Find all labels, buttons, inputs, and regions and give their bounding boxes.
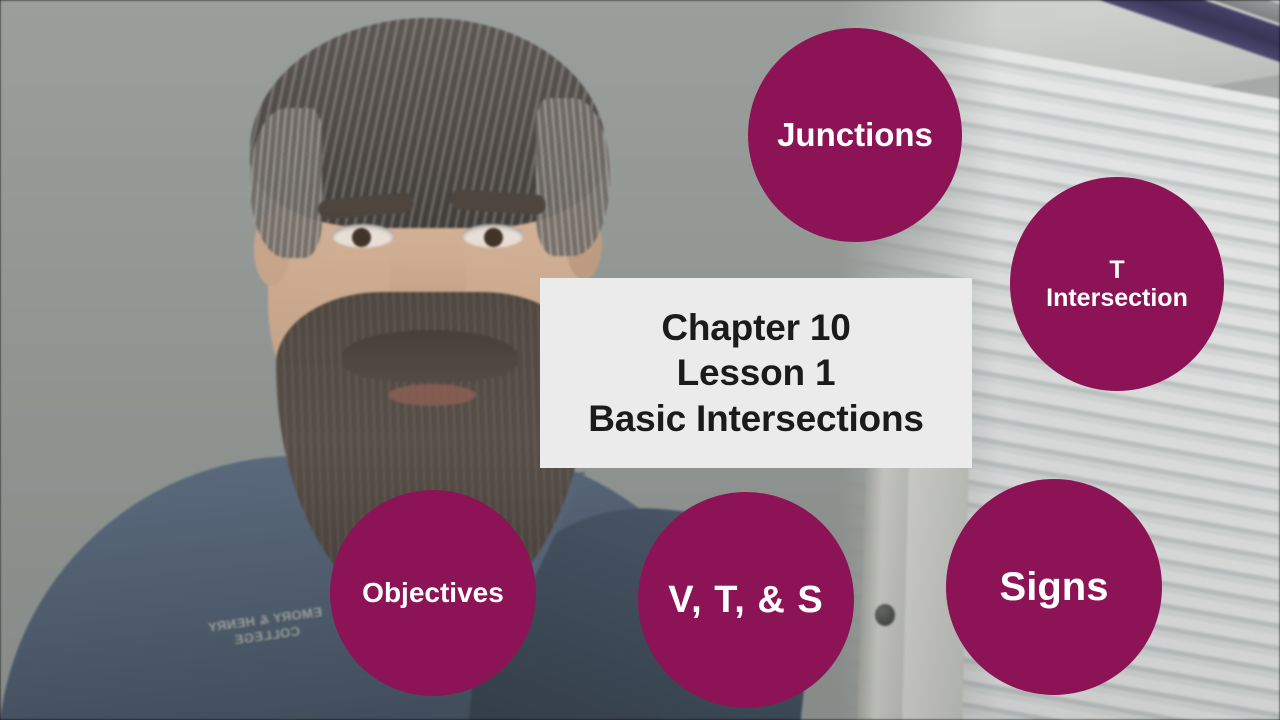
topic-bubble-junctions[interactable]: Junctions [748,28,962,242]
title-line-1: Chapter 10 [661,306,850,350]
topic-bubble-t-intersection[interactable]: T Intersection [1010,177,1224,391]
topic-bubble-signs-label: Signs [1000,565,1109,610]
topic-bubble-objectives-label: Objectives [362,577,504,608]
title-card: Chapter 10 Lesson 1 Basic Intersections [540,278,972,468]
video-frame: EMORY & HENRY COLLEGE Junctions T Inters… [0,0,1280,720]
title-line-3: Basic Intersections [588,397,924,441]
topic-bubble-vts[interactable]: V, T, & S [638,492,854,708]
presenter-pupil-left [352,228,371,247]
presenter-mustache [342,330,518,382]
topic-bubble-junctions-label: Junctions [777,117,933,154]
t-intersection-line-2: Intersection [1046,284,1188,312]
topic-bubble-objectives[interactable]: Objectives [330,490,536,696]
door-knob [875,604,895,626]
topic-bubble-vts-label: V, T, & S [668,579,823,622]
presenter-hair-gray-right [536,98,610,256]
topic-bubble-t-intersection-label: T Intersection [1046,256,1188,312]
title-line-2: Lesson 1 [677,351,836,395]
presenter-pupil-right [484,228,503,247]
presenter-lips [388,384,476,406]
presenter-hair-gray-left [250,108,322,258]
t-intersection-line-1: T [1109,256,1124,284]
topic-bubble-signs[interactable]: Signs [946,479,1162,695]
